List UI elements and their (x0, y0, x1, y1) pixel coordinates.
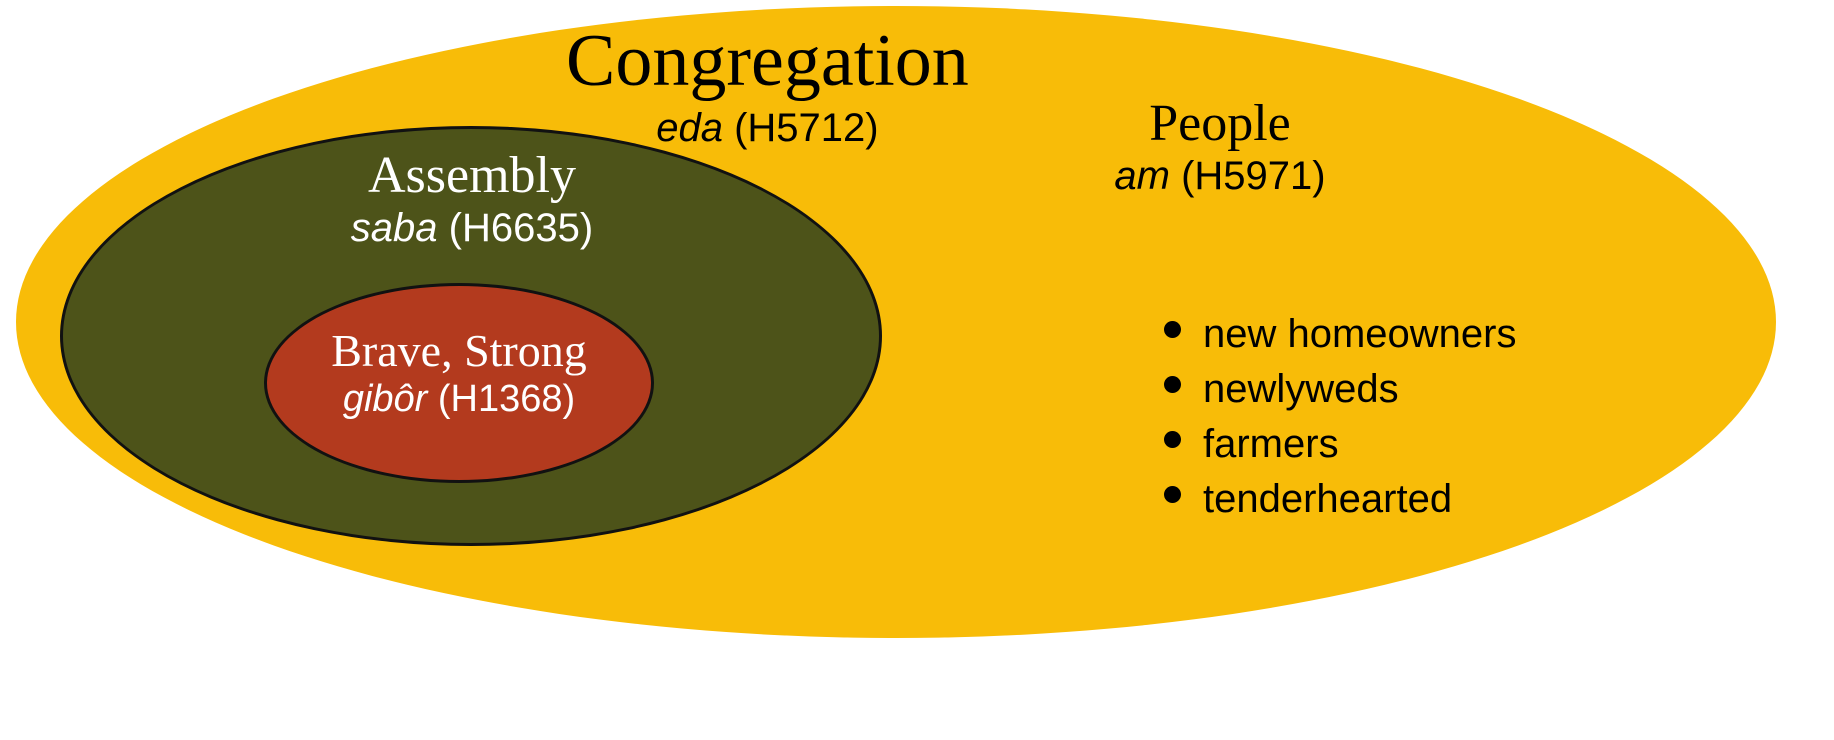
assembly-label: Assembly saba (H6635) (230, 148, 714, 250)
list-item: farmers (1164, 422, 1517, 477)
bullet-dot-icon (1164, 431, 1181, 448)
congregation-label: Congregation eda (H5712) (566, 22, 969, 150)
list-item-label: tenderhearted (1203, 477, 1452, 522)
assembly-strongs-number: (H6635) (449, 206, 594, 250)
people-examples-list: new homeowners newlyweds farmers tenderh… (1164, 312, 1517, 532)
brave-strong-transliteration: gibôr (H1368) (264, 379, 654, 419)
assembly-transliteration: saba (H6635) (230, 207, 714, 249)
assembly-hebrew-word: saba (351, 206, 438, 250)
list-item: new homeowners (1164, 312, 1517, 367)
list-item: tenderhearted (1164, 477, 1517, 532)
brave-strong-hebrew-word: gibôr (343, 378, 428, 420)
congregation-title: Congregation (566, 22, 969, 100)
bullet-dot-icon (1164, 376, 1181, 393)
people-title: People (1004, 96, 1436, 151)
assembly-title: Assembly (230, 148, 714, 203)
people-transliteration: am (H5971) (1004, 155, 1436, 197)
congregation-transliteration: eda (H5712) (566, 107, 969, 149)
list-item-label: farmers (1203, 422, 1339, 467)
brave-strong-label: Brave, Strong gibôr (H1368) (264, 327, 654, 419)
congregation-strongs-number: (H5712) (734, 106, 879, 150)
bullet-dot-icon (1164, 321, 1181, 338)
congregation-hebrew-word: eda (656, 106, 723, 150)
brave-strong-strongs-number: (H1368) (438, 378, 575, 420)
bullet-dot-icon (1164, 486, 1181, 503)
list-item: newlyweds (1164, 367, 1517, 422)
people-label: People am (H5971) (1004, 96, 1436, 198)
list-item-label: new homeowners (1203, 312, 1517, 357)
list-item-label: newlyweds (1203, 367, 1399, 412)
people-strongs-number: (H5971) (1181, 154, 1326, 198)
people-hebrew-word: am (1114, 154, 1170, 198)
brave-strong-title: Brave, Strong (264, 327, 654, 376)
diagram-canvas: Congregation eda (H5712) People am (H597… (0, 0, 1834, 740)
